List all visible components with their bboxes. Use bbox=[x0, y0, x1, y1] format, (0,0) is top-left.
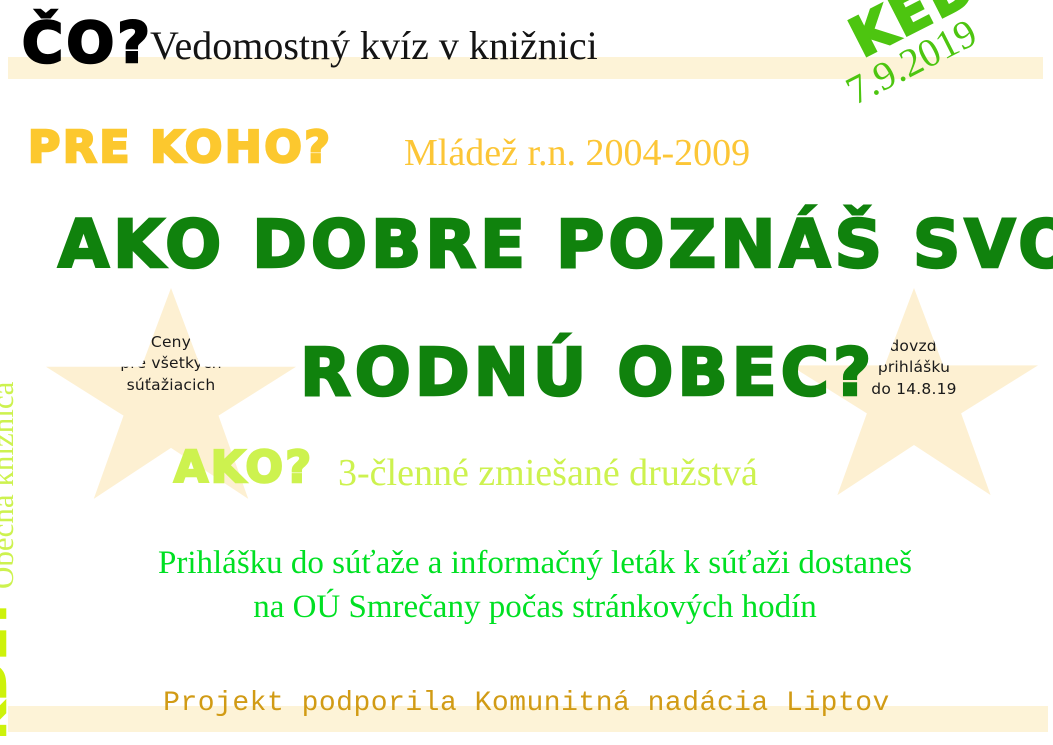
when-group: KEDY? 7.9.2019 bbox=[836, 6, 1046, 191]
prizes-star-text: Ceny pre všetkých súťažiacich bbox=[46, 332, 296, 396]
audience-label: PRE KOHO? bbox=[28, 126, 333, 170]
what-value: Vedomostný kvíz v knižnici bbox=[150, 26, 598, 66]
audience-value: Mládež r.n. 2004-2009 bbox=[404, 134, 750, 172]
how-value: 3-členné zmiešané družstvá bbox=[338, 454, 758, 492]
where-value: Obecná knižnica bbox=[0, 382, 18, 589]
sponsor-credit: Projekt podporila Komunitná nadácia Lipt… bbox=[0, 688, 1053, 719]
how-label: AKO? bbox=[174, 446, 314, 490]
where-group: KDE? Obecná knižnica bbox=[0, 0, 66, 745]
body-paragraph: Prihlášku do súťaže a informačný leták k… bbox=[60, 542, 1010, 629]
poster-canvas: Ceny pre všetkých súťažiacich Odovzdaj p… bbox=[0, 0, 1053, 745]
headline-line-1: AKO DOBRE POZNÁŠ SVOJU bbox=[58, 212, 1053, 278]
headline-line-2: RODNÚ OBEC? bbox=[300, 340, 875, 406]
